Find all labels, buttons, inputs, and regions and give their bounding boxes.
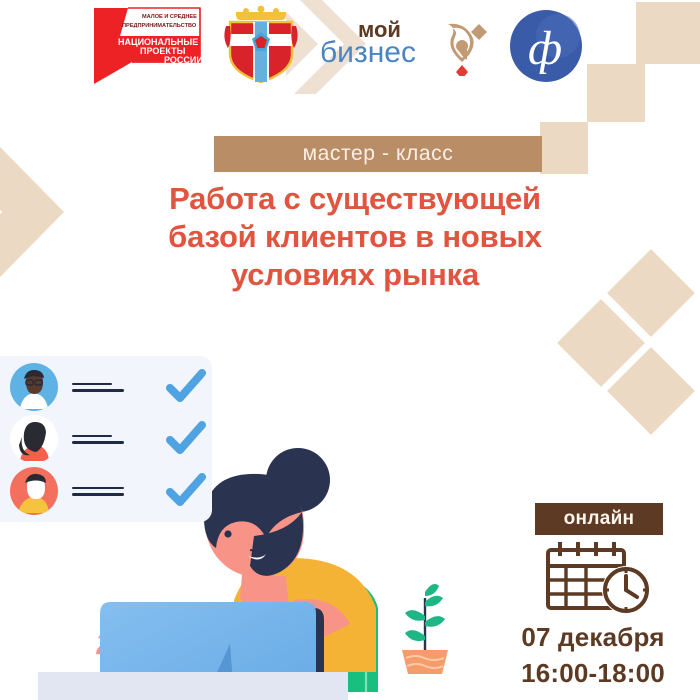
online-format-label: онлайн bbox=[564, 508, 635, 530]
check-icon bbox=[166, 420, 206, 458]
event-date: 07 декабря bbox=[486, 622, 700, 653]
client-checklist-card bbox=[0, 356, 212, 522]
list-item[interactable] bbox=[10, 414, 210, 464]
avatar bbox=[10, 363, 58, 411]
avatar bbox=[10, 415, 58, 463]
list-item[interactable] bbox=[10, 466, 210, 516]
np-small-line-1: МАЛОЕ И СРЕДНЕЕ bbox=[142, 14, 197, 20]
avatar bbox=[10, 467, 58, 515]
f-letter: ф bbox=[528, 22, 562, 75]
calendar-clock-icon bbox=[540, 540, 658, 614]
np-small-line-2: ПРЕДПРИНИМАТЕЛЬСТВО bbox=[122, 23, 197, 29]
list-item-text-lines bbox=[72, 431, 124, 448]
fund-f-logo: ф bbox=[506, 6, 586, 86]
master-class-badge-label: мастер - класс bbox=[303, 142, 454, 166]
check-icon bbox=[166, 368, 206, 406]
moy-biznes-logo: мой бизнес bbox=[318, 10, 498, 76]
master-class-badge: мастер - класс bbox=[214, 136, 542, 172]
list-item-text-lines bbox=[72, 483, 124, 500]
event-time: 16:00-18:00 bbox=[486, 658, 700, 689]
logo-row: МАЛОЕ И СРЕДНЕЕ ПРЕДПРИНИМАТЕЛЬСТВО НАЦИ… bbox=[0, 0, 700, 90]
check-icon bbox=[166, 472, 206, 510]
mb-line-2: бизнес bbox=[320, 36, 416, 69]
title-line-3: условиях рынка bbox=[110, 256, 600, 294]
poster-canvas: МАЛОЕ И СРЕДНЕЕ ПРЕДПРИНИМАТЕЛЬСТВО НАЦИ… bbox=[0, 0, 700, 700]
title-line-2: базой клиентов в новых bbox=[110, 218, 600, 256]
national-projects-logo: МАЛОЕ И СРЕДНЕЕ ПРЕДПРИНИМАТЕЛЬСТВО НАЦИ… bbox=[88, 6, 206, 84]
omsk-coat-of-arms-logo bbox=[222, 4, 300, 84]
potted-plant-decor bbox=[392, 578, 458, 674]
list-item[interactable] bbox=[10, 362, 210, 412]
np-line-3: РОССИИ bbox=[164, 55, 203, 65]
list-item-text-lines bbox=[72, 379, 124, 396]
online-format-badge: онлайн bbox=[535, 503, 663, 535]
desk-surface bbox=[38, 672, 348, 700]
page-title: Работа с существующей базой клиентов в н… bbox=[110, 180, 600, 294]
title-line-1: Работа с существующей bbox=[110, 180, 600, 218]
